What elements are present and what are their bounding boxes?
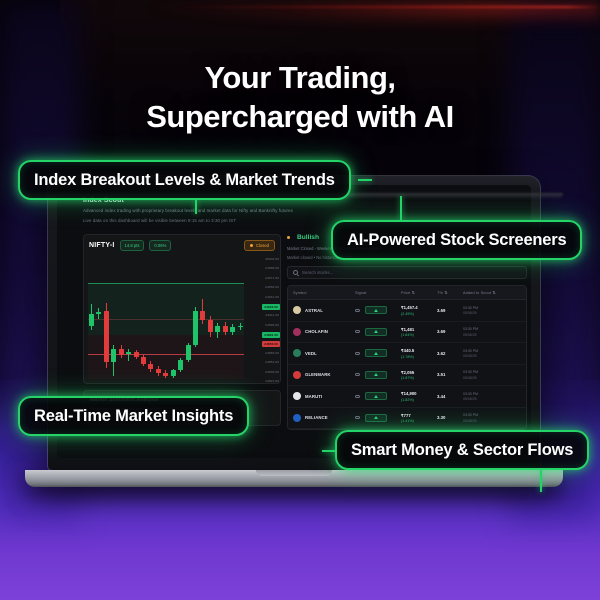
connector-ai-vertical [400, 196, 402, 220]
cell-symbol: VEDL [293, 349, 355, 357]
symbol-label: CHOLAFIN [305, 329, 328, 334]
callout-real-label: Real-Time Market Insights [34, 407, 233, 426]
added-time: 03:30 PM [463, 327, 521, 331]
price-change: (1.82%) [401, 398, 437, 402]
cell-added-to-scout: 03:30 PM05/08/25 [463, 370, 521, 380]
candle [238, 257, 243, 379]
added-date: 05/08/25 [463, 333, 521, 337]
cell-target-percent: 3.69 [437, 329, 463, 334]
cell-added-to-scout: 03:30 PM05/08/25 [463, 413, 521, 423]
candle [230, 257, 235, 379]
column-header-t[interactable]: T% ⇅ [437, 290, 463, 295]
cell-added-to-scout: 03:30 PM05/08/25 [463, 327, 521, 337]
candle [200, 257, 205, 379]
cell-symbol: RELIANCE [293, 414, 355, 422]
candle [119, 257, 124, 379]
company-logo-icon [293, 349, 301, 357]
cell-added-to-scout: 03:30 PM05/08/25 [463, 349, 521, 359]
cell-price: ₹440.5(1.78%) [401, 348, 437, 359]
price-level-label: 24856.00 [262, 341, 280, 347]
added-date: 05/08/25 [463, 397, 521, 401]
price-value: ₹1,481 [401, 327, 437, 332]
cell-target-percent: 3.44 [437, 394, 463, 399]
price-level-label: 24926.00 [262, 304, 280, 310]
signal-button[interactable] [365, 371, 387, 379]
eye-icon[interactable] [355, 416, 360, 419]
market-status-badge: Closed [244, 240, 275, 251]
dashboard-subtitle: Advanced index trading with proprietary … [83, 208, 527, 213]
signal-button[interactable] [365, 306, 387, 314]
symbol-label: GLENMARK [305, 372, 331, 377]
trend-label: Bullish [297, 234, 319, 241]
axis-tick: 24896.00 [265, 323, 280, 327]
candlestick-plot [88, 257, 244, 379]
callout-ai-screeners[interactable]: AI-Powered Stock Screeners [331, 220, 582, 260]
page-title: Your Trading, Supercharged with AI [0, 58, 600, 136]
signal-button[interactable] [365, 392, 387, 400]
candle [215, 257, 220, 379]
cell-symbol: GLENMARK [293, 371, 355, 379]
company-logo-icon [293, 414, 301, 422]
price-change: (1.87%) [401, 376, 437, 380]
callout-smart-label: Smart Money & Sector Flows [351, 441, 573, 460]
poster-stage: Your Trading, Supercharged with AI Index… [0, 0, 600, 600]
eye-icon[interactable] [355, 352, 360, 355]
column-header-symbol[interactable]: Symbol [293, 290, 355, 295]
candle [89, 257, 94, 379]
axis-tick: 24836.00 [265, 370, 280, 374]
market-status-label: Closed [256, 243, 269, 248]
connector-index-vertical [195, 200, 197, 214]
table-header-row: SymbolSignalPrice ⇅T% ⇅Added to Scout ⇅ [288, 286, 526, 300]
table-row[interactable]: CHOLAFIN₹1,481(1.84%)3.6903:30 PM05/08/2… [288, 322, 526, 344]
arrow-up-icon [374, 309, 378, 312]
axis-tick: 24956.00 [265, 285, 280, 289]
eye-icon[interactable] [355, 395, 360, 398]
price-axis: 25002.0024986.0024971.0024956.0024941.00… [246, 257, 280, 379]
cell-added-to-scout: 03:30 PM05/08/25 [463, 392, 521, 402]
arrow-up-icon [374, 352, 378, 355]
candle [111, 257, 116, 379]
candle [126, 257, 131, 379]
axis-tick: 24941.00 [265, 295, 280, 299]
column-header-signal[interactable]: Signal [355, 290, 401, 295]
laptop-base [25, 470, 563, 487]
company-logo-icon [293, 371, 301, 379]
headline-line-2: Supercharged with AI [0, 97, 600, 136]
chart-change-pill: 14.8 pts [120, 240, 145, 251]
candle [171, 257, 176, 379]
top-red-line [175, 6, 600, 8]
candle [186, 257, 191, 379]
axis-tick: 24821.00 [265, 379, 280, 383]
connector-smart-vertical [540, 470, 542, 492]
added-date: 05/08/25 [463, 311, 521, 315]
added-time: 03:30 PM [463, 370, 521, 374]
cell-symbol: CHOLAFIN [293, 328, 355, 336]
added-date: 05/08/25 [463, 419, 521, 423]
axis-tick: 24986.00 [265, 266, 280, 270]
company-logo-icon [293, 328, 301, 336]
added-time: 03:30 PM [463, 392, 521, 396]
cell-added-to-scout: 03:30 PM05/08/25 [463, 306, 521, 316]
arrow-up-icon [374, 330, 378, 333]
callout-realtime-insights[interactable]: Real-Time Market Insights [18, 396, 249, 436]
headline-line-1: Your Trading, [205, 60, 396, 95]
symbol-label: RELIANCE [305, 415, 328, 420]
price-change: (1.78%) [401, 355, 437, 359]
callout-index-label: Index Breakout Levels & Market Trends [34, 171, 335, 190]
search-placeholder: Search stocks... [302, 270, 333, 275]
symbol-label: MARUTI [305, 394, 322, 399]
candle-series [88, 257, 244, 379]
cell-price: ₹777(1.41%) [401, 413, 437, 424]
candle [163, 257, 168, 379]
cell-symbol: ASTRAL [293, 306, 355, 314]
screener-table: SymbolSignalPrice ⇅T% ⇅Added to Scout ⇅ … [287, 285, 527, 430]
price-value: ₹2,055 [401, 370, 437, 375]
candle [208, 257, 213, 379]
cell-signal [355, 392, 401, 400]
axis-tick: 24911.00 [266, 313, 280, 317]
price-value: ₹14,900 [401, 391, 437, 396]
cell-target-percent: 3.30 [437, 415, 463, 420]
column-header-price[interactable]: Price ⇅ [401, 290, 437, 295]
cell-target-percent: 3.69 [437, 308, 463, 313]
cell-signal [355, 349, 401, 357]
company-logo-icon [293, 392, 301, 400]
candle [193, 257, 198, 379]
symbol-label: ASTRAL [305, 308, 323, 313]
cell-price: ₹14,900(1.82%) [401, 391, 437, 402]
axis-tick: 24971.00 [265, 276, 280, 280]
screener-column: Bullish Market Closed - Weekend - Histor… [287, 234, 527, 430]
table-body: ASTRAL₹1,457.4(2.45%)3.6903:30 PM05/08/2… [288, 300, 526, 429]
callout-ai-label: AI-Powered Stock Screeners [347, 231, 566, 250]
added-time: 03:30 PM [463, 306, 521, 310]
table-row[interactable]: ASTRAL₹1,457.4(2.45%)3.6903:30 PM05/08/2… [288, 300, 526, 322]
callout-smart-money[interactable]: Smart Money & Sector Flows [335, 430, 589, 470]
candle [148, 257, 153, 379]
candle [141, 257, 146, 379]
price-change: (1.84%) [401, 333, 437, 337]
eye-icon[interactable] [355, 373, 360, 376]
eye-icon[interactable] [355, 330, 360, 333]
eye-icon[interactable] [355, 309, 360, 312]
cell-price: ₹2,055(1.87%) [401, 370, 437, 381]
chart-toolbar: NIFTY-I 14.8 pts 0.06% Closed [89, 240, 275, 251]
added-date: 05/08/25 [463, 354, 521, 358]
axis-tick: 25002.00 [265, 257, 280, 261]
index-chart-card: NIFTY-I 14.8 pts 0.06% Closed [83, 234, 281, 384]
candle [96, 257, 101, 379]
cell-price: ₹1,457.4(2.45%) [401, 305, 437, 316]
company-logo-icon [293, 306, 301, 314]
candle [134, 257, 139, 379]
added-date: 05/08/25 [463, 376, 521, 380]
candle [156, 257, 161, 379]
symbol-label: VEDL [305, 351, 317, 356]
column-header-added-to-scout[interactable]: Added to Scout ⇅ [463, 290, 521, 295]
axis-tick: 24851.00 [265, 360, 280, 364]
candle [178, 257, 183, 379]
status-dot-icon [250, 244, 253, 247]
chart-symbol: NIFTY-I [89, 242, 115, 249]
candle [104, 257, 109, 379]
cell-symbol: MARUTI [293, 392, 355, 400]
candle [223, 257, 228, 379]
price-value: ₹440.5 [401, 348, 437, 353]
cell-signal [355, 306, 401, 314]
table-row[interactable]: GLENMARK₹2,055(1.87%)3.5103:30 PM05/08/2… [288, 365, 526, 387]
signal-button[interactable] [365, 414, 387, 422]
cell-target-percent: 3.51 [437, 372, 463, 377]
price-level-label: 24881.00 [262, 332, 280, 338]
cell-signal [355, 371, 401, 379]
cell-target-percent: 3.62 [437, 351, 463, 356]
added-time: 03:30 PM [463, 349, 521, 353]
axis-tick: 24866.00 [265, 351, 280, 355]
price-value: ₹777 [401, 413, 437, 418]
cell-price: ₹1,481(1.84%) [401, 327, 437, 338]
signal-button[interactable] [365, 328, 387, 336]
table-row[interactable]: VEDL₹440.5(1.78%)3.6203:30 PM05/08/25 [288, 343, 526, 365]
search-icon [293, 270, 298, 275]
search-input[interactable]: Search stocks... [287, 266, 527, 279]
cell-signal [355, 414, 401, 422]
signal-button[interactable] [365, 349, 387, 357]
trend-dot-icon [287, 236, 290, 239]
connector-index-horizontal [358, 179, 372, 181]
arrow-up-icon [374, 395, 378, 398]
chart-percent-pill: 0.06% [149, 240, 171, 251]
price-value: ₹1,457.4 [401, 305, 437, 310]
price-change: (1.41%) [401, 419, 437, 423]
arrow-up-icon [374, 416, 378, 419]
callout-index-breakout[interactable]: Index Breakout Levels & Market Trends [18, 160, 351, 200]
added-time: 03:30 PM [463, 413, 521, 417]
price-change: (2.45%) [401, 312, 437, 316]
connector-smart-horizontal [322, 450, 336, 452]
table-row[interactable]: MARUTI₹14,900(1.82%)3.4403:30 PM05/08/25 [288, 386, 526, 408]
table-row[interactable]: RELIANCE₹777(1.41%)3.3003:30 PM05/08/25 [288, 408, 526, 430]
arrow-up-icon [374, 373, 378, 376]
cell-signal [355, 328, 401, 336]
